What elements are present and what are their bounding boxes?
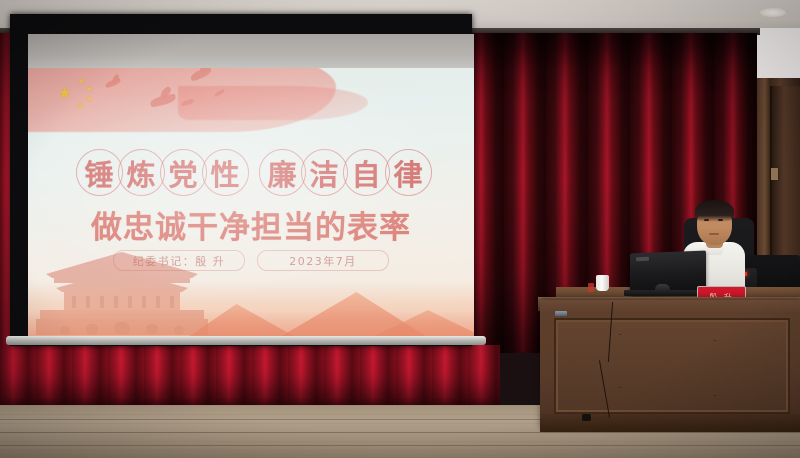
title-char: 廉 bbox=[259, 149, 306, 196]
slide-title: 锤 炼 党 性 廉 洁 自 律 bbox=[28, 149, 474, 196]
title-char: 炼 bbox=[118, 149, 165, 196]
slide-subtitle: 做忠诚干净担当的表率 bbox=[28, 202, 474, 247]
title-char: 锤 bbox=[76, 149, 123, 196]
title-char: 党 bbox=[160, 149, 207, 196]
speaker-eye-left bbox=[704, 219, 709, 221]
title-char: 性 bbox=[202, 149, 249, 196]
flag-star-3: ★ bbox=[86, 96, 92, 103]
flag-star-large: ★ bbox=[58, 86, 71, 101]
cable-plug bbox=[582, 414, 591, 421]
meeting-room-photo: ★ ★ ★ ★ ★ 锤 炼 党 bbox=[0, 0, 800, 458]
presentation-slide: ★ ★ ★ ★ ★ 锤 炼 党 bbox=[28, 34, 474, 344]
date-badge: 2023年7月 bbox=[257, 250, 389, 271]
screen-unlit-band bbox=[28, 34, 474, 68]
flag-star-2: ★ bbox=[86, 86, 92, 93]
projection-screen: ★ ★ ★ ★ ★ 锤 炼 党 bbox=[28, 34, 474, 344]
screen-weight-bar bbox=[6, 336, 486, 345]
door-hinge-upper bbox=[771, 168, 778, 180]
speaker-hair bbox=[695, 200, 734, 222]
title-char: 律 bbox=[385, 149, 432, 196]
podium-base bbox=[540, 414, 800, 432]
projection-screen-frame: ★ ★ ★ ★ ★ 锤 炼 党 bbox=[10, 14, 472, 346]
speaker-eye-right bbox=[718, 219, 723, 221]
title-char: 洁 bbox=[301, 149, 348, 196]
ceiling-light bbox=[760, 8, 786, 17]
laptop-logo bbox=[636, 257, 649, 261]
flag-star-1: ★ bbox=[78, 78, 84, 85]
slide-title-group-1: 锤 炼 党 性 bbox=[76, 149, 244, 196]
slide-title-group-2: 廉 洁 自 律 bbox=[259, 149, 427, 196]
water-cup bbox=[596, 275, 609, 291]
speaker-mouth bbox=[709, 233, 719, 235]
desk-small-item bbox=[588, 283, 594, 292]
flag-star-4: ★ bbox=[77, 103, 83, 110]
chinese-flag-ribbon bbox=[178, 86, 368, 120]
title-char: 自 bbox=[343, 149, 390, 196]
podium-switch[interactable] bbox=[555, 311, 567, 316]
podium-front-panel bbox=[554, 318, 790, 414]
